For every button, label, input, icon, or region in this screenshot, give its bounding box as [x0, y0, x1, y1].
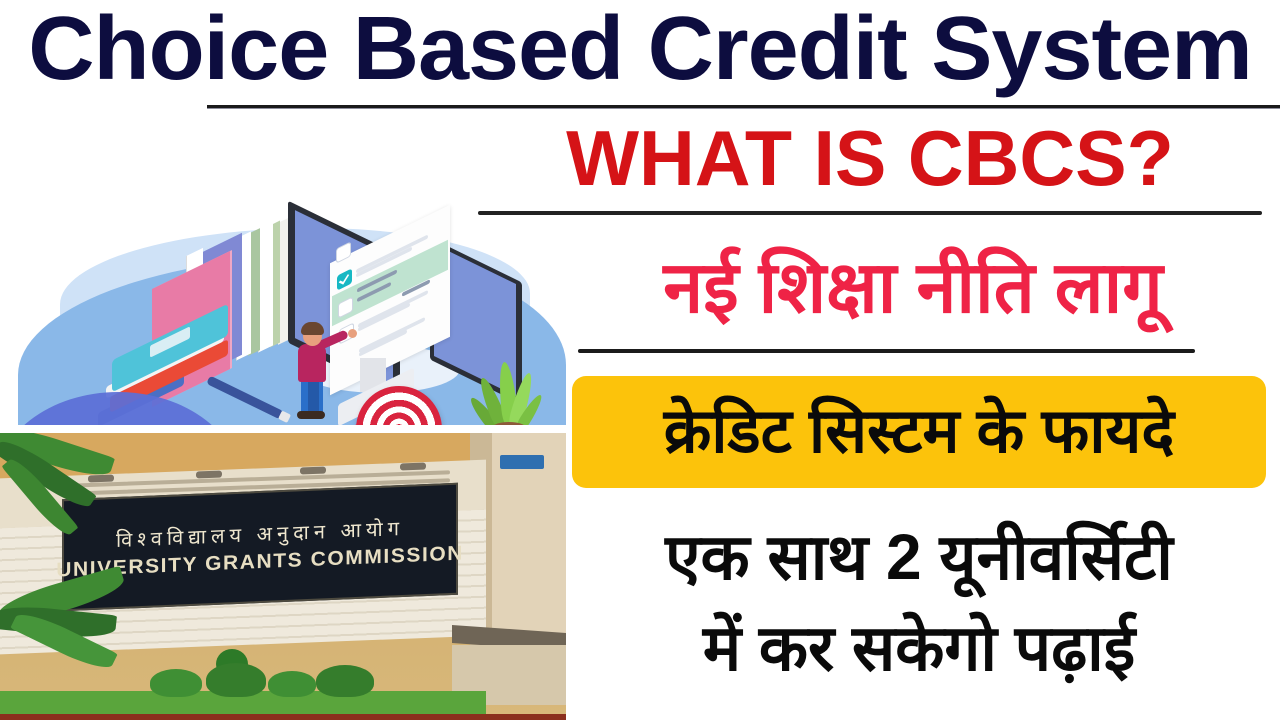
- title-divider: [207, 105, 1280, 108]
- lamp-icon: [400, 463, 426, 471]
- photo-bottom-border: [0, 714, 566, 720]
- lamp-icon: [196, 471, 222, 479]
- headline-divider: [478, 211, 1262, 215]
- bottom-message-line-1: एक साथ 2 यूनीवर्सिटी: [665, 512, 1173, 603]
- person-shoe-icon: [297, 411, 325, 419]
- person-body-icon: [298, 344, 326, 382]
- page-title: Choice Based Credit System: [0, 0, 1280, 101]
- bush-icon: [316, 665, 374, 697]
- poster-canvas: Choice Based Credit System: [0, 0, 1280, 720]
- lamp-icon: [300, 467, 326, 475]
- bush-icon: [268, 671, 316, 697]
- headline-hindi-policy: नई शिक्षा नीति लागू: [556, 236, 1270, 342]
- book-icon: [258, 223, 273, 352]
- bush-icon: [206, 663, 266, 697]
- headline-what-is-cbcs: WHAT IS CBCS?: [474, 112, 1266, 204]
- bush-icon: [150, 669, 202, 697]
- ugc-signboard: विश्वविद्यालय अनुदान आयोग UNIVERSITY GRA…: [62, 483, 458, 612]
- bottom-message-line-2: में कर सकेगो पढ़ाई: [703, 603, 1135, 694]
- benefits-banner: क्रेडिट सिस्टम के फायदे: [572, 376, 1266, 488]
- lamp-icon: [88, 475, 114, 483]
- hindi-headline-divider: [578, 349, 1195, 353]
- person-hand-icon: [348, 329, 357, 338]
- person-hair-icon: [301, 322, 324, 335]
- photo-blue-plaque: [500, 455, 544, 469]
- ugc-building-photo: विश्वविद्यालय अनुदान आयोग UNIVERSITY GRA…: [0, 433, 566, 720]
- benefits-banner-label: क्रेडिट सिस्टम के फायदे: [664, 401, 1175, 463]
- bottom-message: एक साथ 2 यूनीवर्सिटी में कर सकेगो पढ़ाई: [566, 496, 1272, 710]
